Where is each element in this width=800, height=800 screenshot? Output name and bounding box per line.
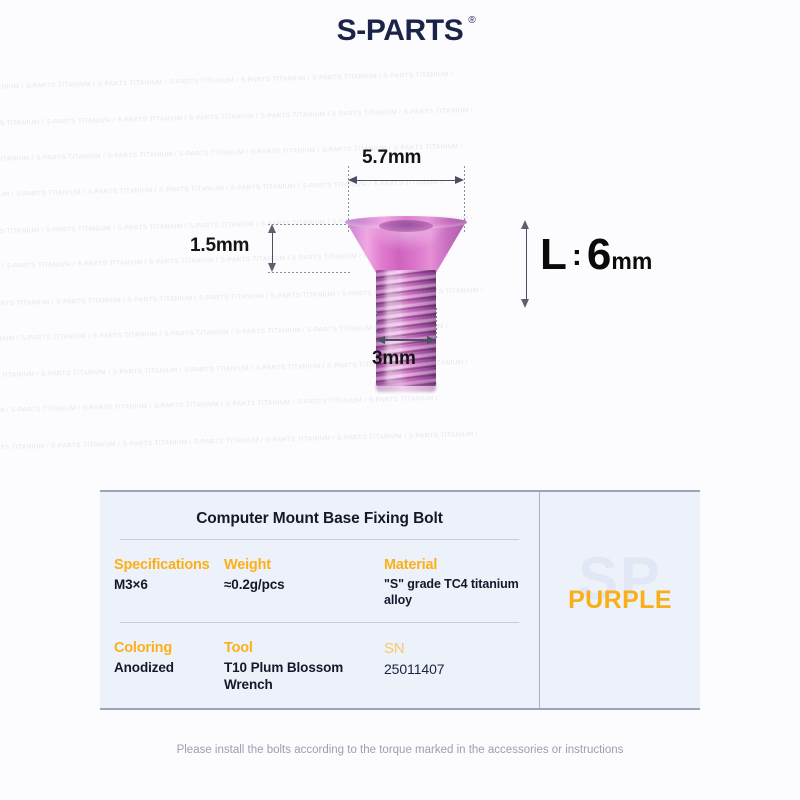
extension-line-shaft-right xyxy=(436,308,437,340)
material-value: "S" grade TC4 titanium alloy xyxy=(384,577,525,608)
arrow-down-head-height xyxy=(268,263,276,272)
spec-cell-tool: Tool T10 Plum Blossom Wrench xyxy=(224,640,384,694)
installation-note: Please install the bolts according to th… xyxy=(0,744,800,756)
product-title: Computer Mount Base Fixing Bolt xyxy=(114,492,525,528)
bolt-image xyxy=(345,220,467,428)
dimension-line-head-width xyxy=(352,180,460,182)
watermark-text: / S-PARTS TITANIUM / S-PARTS TITANIUM / … xyxy=(0,71,453,92)
length-value: 6 xyxy=(587,230,611,279)
spec-cell-specifications: Specifications M3×6 xyxy=(114,557,224,608)
product-diagram: 5.7mm 1.5mm 3mm L:6mm xyxy=(0,120,800,400)
weight-value: ≈0.2g/pcs xyxy=(224,577,384,594)
dimension-line-shaft-diameter xyxy=(380,339,432,341)
arrow-up-total-length xyxy=(521,220,529,229)
arrow-up-head-height xyxy=(268,224,276,233)
spec-cell-weight: Weight ≈0.2g/pcs xyxy=(224,557,384,608)
weight-label: Weight xyxy=(224,557,384,573)
dimension-line-total-length xyxy=(526,228,528,302)
extension-line-head-top xyxy=(268,224,350,225)
color-panel: SP PURPLE xyxy=(540,492,700,708)
length-prefix: L xyxy=(540,230,567,279)
watermark-text: / S-PARTS TITANIUM / S-PARTS TITANIUM / … xyxy=(0,431,478,452)
sn-label: SN xyxy=(384,640,525,657)
sn-value: 25011407 xyxy=(384,661,525,679)
extension-line-head-bottom xyxy=(268,272,350,273)
brand-header: S-PARTS ® xyxy=(0,14,800,48)
bolt-torx-socket xyxy=(379,220,433,232)
spec-row-1: Specifications M3×6 Weight ≈0.2g/pcs Mat… xyxy=(114,540,525,608)
dimension-label-shaft-diameter: 3mm xyxy=(372,348,416,370)
material-label: Material xyxy=(384,557,525,573)
spec-cell-sn: SN 25011407 xyxy=(384,640,525,694)
coloring-label: Coloring xyxy=(114,640,224,656)
dimension-label-head-height: 1.5mm xyxy=(190,235,249,257)
length-unit: mm xyxy=(611,248,652,274)
specifications-value: M3×6 xyxy=(114,577,224,594)
arrow-left-shaft xyxy=(376,336,385,344)
arrow-down-total-length xyxy=(521,299,529,308)
arrow-right-shaft xyxy=(427,336,436,344)
arrow-right-head-width xyxy=(455,176,464,184)
brand-logo-text: S-PARTS ® xyxy=(337,14,464,48)
arrow-left-head-width xyxy=(348,176,357,184)
bolt-tip xyxy=(376,382,436,392)
spec-cell-coloring: Coloring Anodized xyxy=(114,640,224,694)
dimension-line-head-height xyxy=(272,228,274,268)
specifications-label: Specifications xyxy=(114,557,224,573)
tool-label: Tool xyxy=(224,640,384,656)
coloring-value: Anodized xyxy=(114,660,224,677)
total-length-label: L:6mm xyxy=(540,230,652,280)
length-separator: : xyxy=(567,239,587,272)
specification-table: Computer Mount Base Fixing Bolt Specific… xyxy=(100,490,700,710)
color-name: PURPLE xyxy=(568,586,672,615)
registered-trademark-icon: ® xyxy=(468,15,475,26)
tool-value: T10 Plum Blossom Wrench xyxy=(224,660,384,694)
spec-row-2: Coloring Anodized Tool T10 Plum Blossom … xyxy=(114,623,525,694)
specification-details-panel: Computer Mount Base Fixing Bolt Specific… xyxy=(100,492,540,708)
dimension-label-head-width: 5.7mm xyxy=(362,147,421,169)
spec-cell-material: Material "S" grade TC4 titanium alloy xyxy=(384,557,525,608)
brand-name: S-PARTS xyxy=(337,14,464,47)
